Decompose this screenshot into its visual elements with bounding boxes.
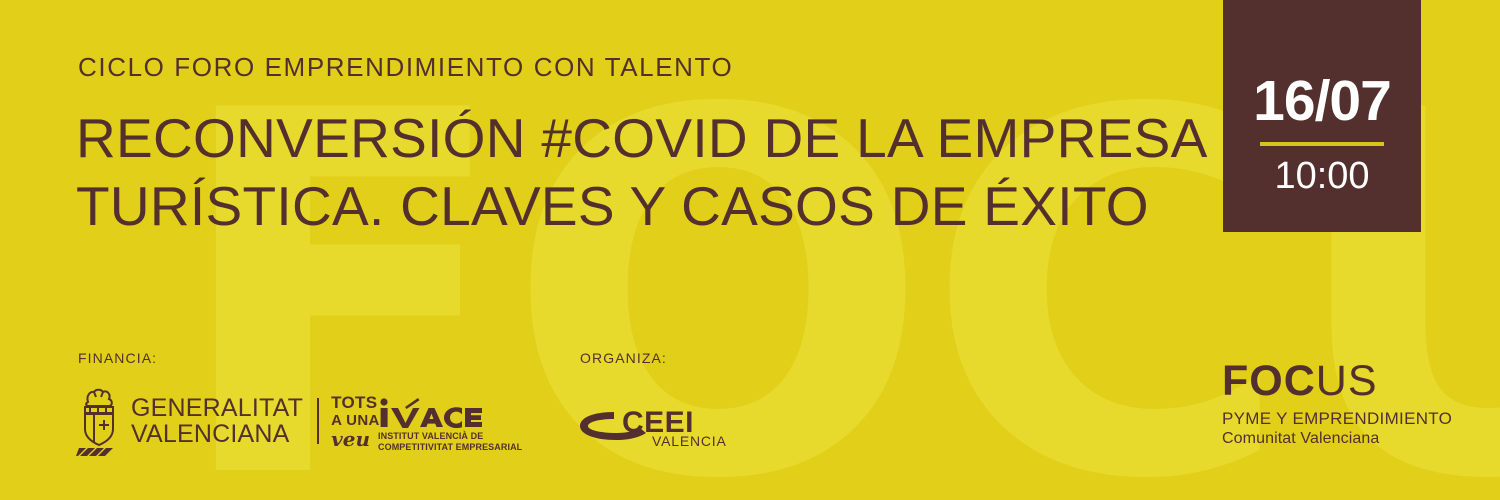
focus-wordmark-light: US [1316,357,1378,405]
generalitat-wordmark: GENERALITAT VALENCIANA [131,395,303,447]
date-time-badge: 16/07 10:00 [1223,0,1421,232]
financia-label: FINANCIA: [78,350,157,366]
focus-wordmark-bold: FOC [1222,357,1316,405]
generalitat-valenciana-logo: GENERALITAT VALENCIANA TOTS A UNA veu [76,386,380,456]
ceei-valencia-logo: CEEI VALENCIA [578,402,726,453]
ivace-wordmark-icon [378,398,486,428]
slogan-line-2: A UNA [331,413,379,428]
ivace-logo: INSTITUT VALENCIÀ DE COMPETITIVITAT EMPR… [378,398,522,453]
ivace-tagline-line-2: COMPETITIVITAT EMPRESARIAL [378,442,522,453]
generalitat-divider [317,398,319,444]
ceei-logo-icon: CEEI VALENCIA [578,402,726,448]
focus-wordmark: FOCUS [1222,358,1452,404]
focus-tagline-2: Comunitat Valenciana [1222,429,1452,449]
focus-logo: FOCUS PYME Y EMPRENDIMIENTO Comunitat Va… [1222,358,1452,449]
focus-tagline-1: PYME Y EMPRENDIMIENTO [1222,408,1452,429]
ceei-location: VALENCIA [652,433,726,448]
organiza-label: ORGANIZA: [580,350,667,366]
badge-divider [1260,142,1384,146]
tots-a-una-veu-slogan: TOTS A UNA veu [331,394,379,449]
event-title: RECONVERSIÓN #COVID DE LA EMPRESA TURÍST… [76,104,1206,240]
generalitat-line-1: GENERALITAT [131,394,303,422]
generalitat-valenciana-crest-icon [76,386,122,456]
event-time: 10:00 [1274,155,1369,197]
slogan-line-3: veu [331,429,379,449]
event-title-line-1: RECONVERSIÓN #COVID DE LA EMPRESA [76,104,1206,172]
generalitat-line-2: VALENCIANA [131,420,290,448]
event-banner: FOCUS CICLO FORO EMPRENDIMIENTO CON TALE… [0,0,1500,500]
event-date: 16/07 [1253,71,1391,131]
event-kicker: CICLO FORO EMPRENDIMIENTO CON TALENTO [78,52,733,83]
ivace-tagline: INSTITUT VALENCIÀ DE COMPETITIVITAT EMPR… [378,431,522,453]
slogan-line-1: TOTS [331,394,379,411]
event-title-line-2: TURÍSTICA. CLAVES Y CASOS DE ÉXITO [76,172,1206,240]
ivace-tagline-line-1: INSTITUT VALENCIÀ DE [378,431,522,442]
